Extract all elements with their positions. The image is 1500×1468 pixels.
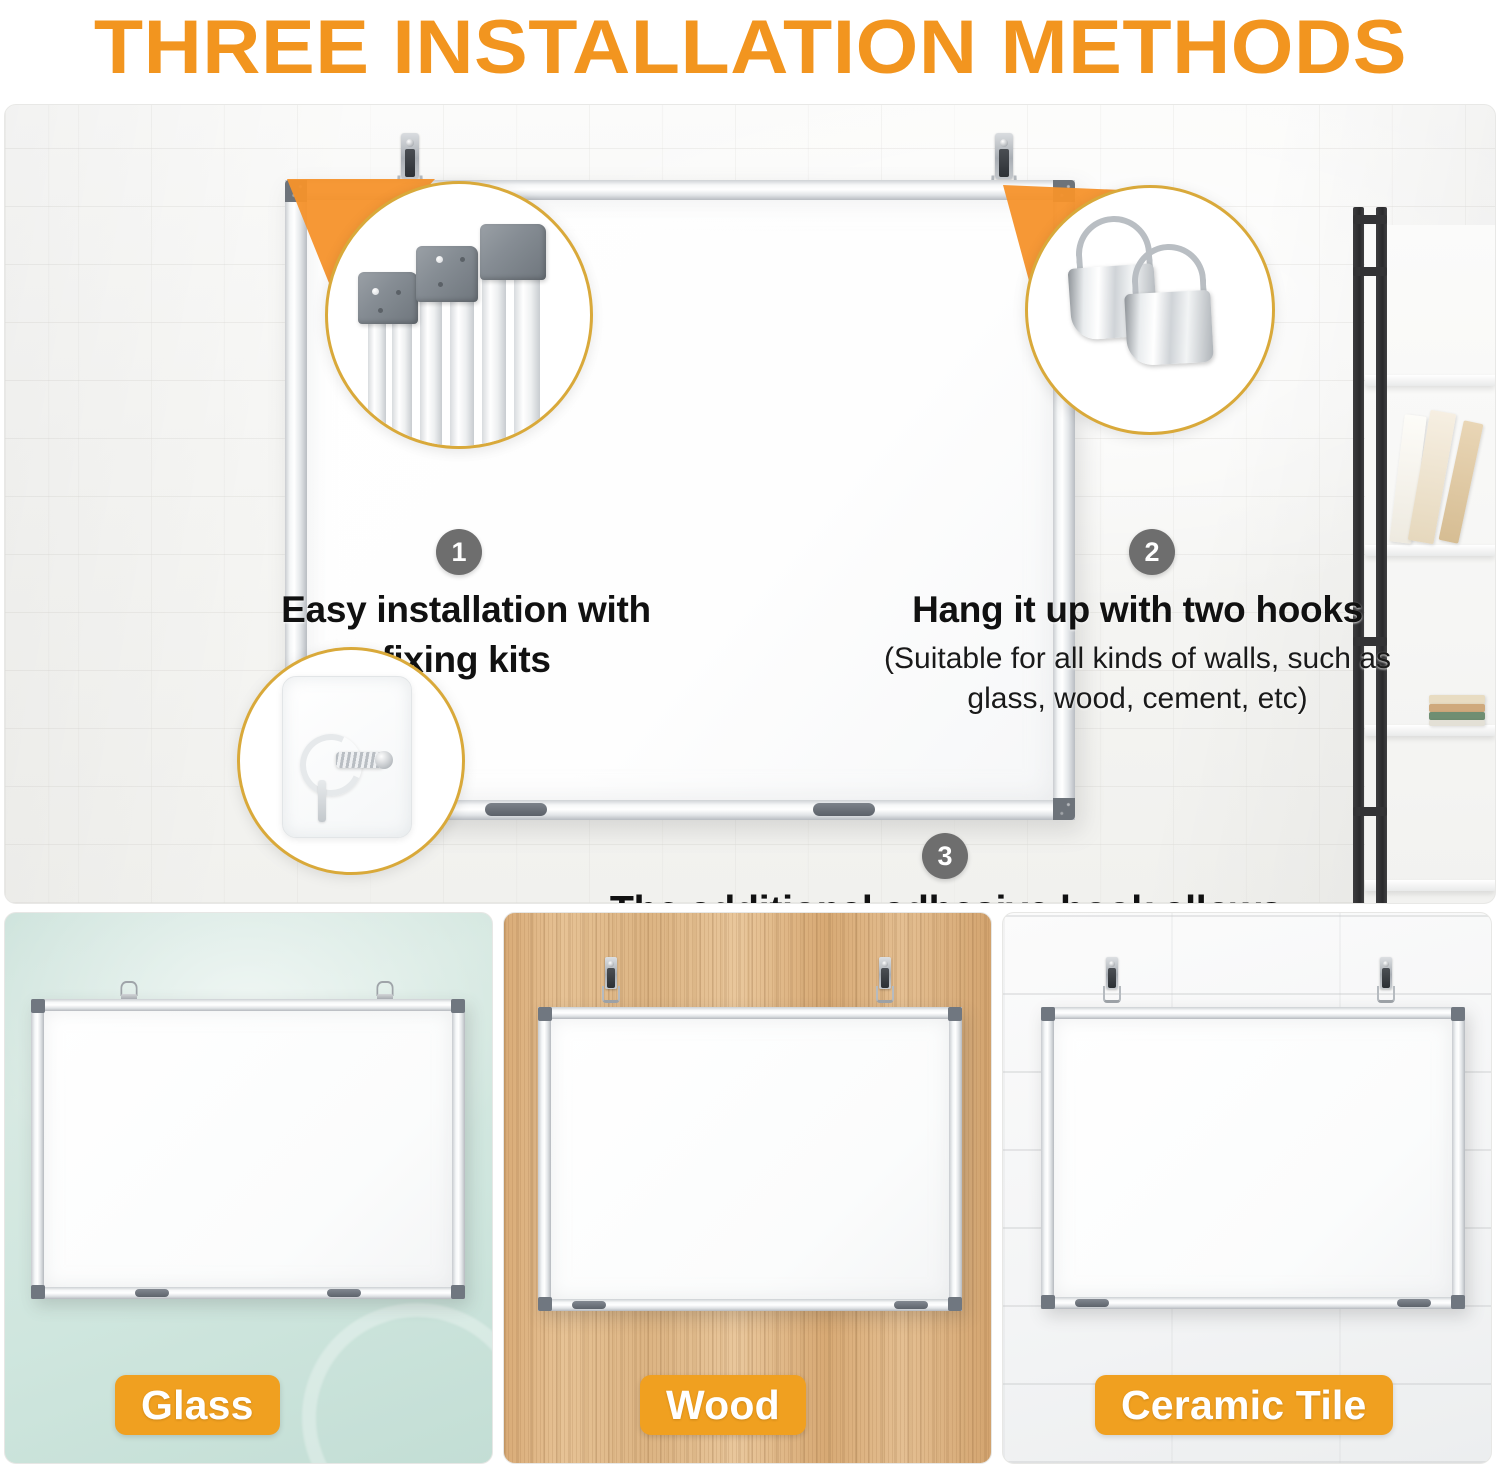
whiteboard-on-glass (31, 999, 465, 1299)
material-label-ceramic-tile-text: Ceramic Tile (1121, 1383, 1367, 1427)
whiteboard-surface (1054, 1019, 1452, 1297)
wood-wall-hook-left (602, 957, 620, 1009)
glass-reflection (302, 1303, 493, 1464)
material-panel-ceramic-tile: Ceramic Tile (1002, 912, 1492, 1464)
whiteboard-on-wood (538, 1007, 962, 1311)
bracket-hole (436, 256, 443, 263)
board-tray-clip (813, 803, 875, 816)
material-label-glass: Glass (115, 1375, 280, 1435)
zoom-circle-hanging-hooks (1025, 185, 1275, 435)
bracket-screw-dot (460, 257, 465, 262)
whiteboard-surface (551, 1019, 949, 1299)
ladder-rung (1353, 215, 1387, 224)
frame-rail (450, 280, 474, 449)
board-frame-top (31, 999, 465, 1011)
board-corner-bracket (451, 999, 465, 1013)
hook-screw (608, 961, 614, 967)
frame-rail (482, 274, 506, 449)
hook-screw (882, 961, 888, 967)
whiteboard-surface (44, 1011, 452, 1287)
board-frame-top (1041, 1007, 1465, 1019)
callout-2-headline: Hang it up with two hooks (865, 585, 1410, 635)
ladder-rail-left (1353, 207, 1364, 904)
board-tray-clip (135, 1289, 169, 1297)
wood-wall-hook-right (876, 957, 894, 1009)
ladder-rung (1353, 267, 1387, 276)
material-panel-wood: Wood (503, 912, 992, 1464)
hook-tongue (607, 968, 615, 988)
board-corner-bracket (538, 1297, 552, 1311)
adhesive-hook-stem (318, 780, 326, 822)
frame-rail (420, 286, 442, 449)
tile-wall-hook-right (1377, 957, 1395, 1009)
board-frame-bottom (31, 1287, 465, 1299)
hook-screw (1109, 961, 1115, 967)
board-corner-bracket (1451, 1295, 1465, 1309)
hook-screw (1000, 139, 1008, 147)
board-corner-bracket (948, 1007, 962, 1021)
material-label-wood: Wood (640, 1375, 806, 1435)
fixing-bracket-large (480, 224, 546, 280)
hook-triangle (1103, 986, 1121, 1003)
board-corner-bracket (1041, 1007, 1055, 1021)
hook-screw (406, 139, 414, 147)
board-frame-right (949, 1007, 962, 1311)
ladder-frame (1353, 207, 1387, 904)
board-corner-bracket (31, 1285, 45, 1299)
bracket-screw-dot (396, 290, 401, 295)
hook-triangle (1377, 986, 1395, 1003)
callout-2-subtext: (Suitable for all kinds of walls, such a… (865, 639, 1410, 719)
book (1429, 695, 1485, 704)
step-badge-2: 2 (1129, 529, 1175, 575)
whiteboard-on-tile (1041, 1007, 1465, 1309)
fixing-bracket-medium (416, 246, 478, 302)
board-frame-left (31, 999, 44, 1299)
board-corner-bracket (1041, 1295, 1055, 1309)
step-badge-1: 1 (436, 529, 482, 575)
bracket-hole (372, 288, 379, 295)
hook-tongue (999, 149, 1009, 177)
page-title-text: THREE INSTALLATION METHODS (93, 8, 1406, 88)
material-panel-strip: Glass (4, 912, 1496, 1464)
fixing-bracket-small (358, 272, 418, 324)
ladder-rail-right (1376, 207, 1387, 904)
bookshelf-unit (1325, 225, 1495, 904)
book (1429, 712, 1485, 720)
board-corner-bracket (451, 1285, 465, 1299)
hook-clip-body-2 (1124, 290, 1214, 366)
hook-triangle (602, 986, 620, 1003)
zoom-circle-adhesive-hook (237, 647, 465, 875)
book (1429, 704, 1485, 712)
material-label-glass-text: Glass (141, 1383, 254, 1427)
board-frame-left (538, 1007, 551, 1311)
board-corner-bracket (31, 999, 45, 1013)
board-corner-bracket (1451, 1007, 1465, 1021)
board-tray-clip (327, 1289, 361, 1297)
tile-wall-hook-left (1103, 957, 1121, 1009)
hook-tongue (1108, 968, 1116, 988)
callout-3: The additional adhesive hook allows you … (565, 883, 1327, 904)
board-tray-clip (894, 1301, 928, 1309)
board-frame-right (1452, 1007, 1465, 1309)
step-badge-3: 3 (922, 833, 968, 879)
screw-post (336, 752, 384, 768)
hook-triangle (876, 986, 894, 1003)
board-corner-bracket (1053, 798, 1075, 820)
board-tray-clip (485, 803, 547, 816)
board-corner-bracket (538, 1007, 552, 1021)
infographic-root: THREE INSTALLATION METHODS (0, 0, 1500, 1468)
bracket-screw-dot (438, 282, 443, 287)
material-panel-glass: Glass (4, 912, 493, 1464)
hook-screw (1383, 961, 1389, 967)
frame-rail (368, 302, 386, 449)
board-tray-clip (572, 1301, 606, 1309)
board-frame-top (538, 1007, 962, 1019)
board-corner-bracket (948, 1297, 962, 1311)
zoom-circle-fixing-kits (325, 181, 593, 449)
ladder-rung (1353, 807, 1387, 816)
bracket-screw-dot (378, 308, 383, 313)
material-label-wood-text: Wood (666, 1383, 780, 1427)
hook-tongue (1382, 968, 1390, 988)
book (1429, 720, 1485, 726)
board-tray-clip (1397, 1299, 1431, 1307)
board-frame-left (1041, 1007, 1054, 1309)
callout-3-headline: The additional adhesive hook allows you … (580, 883, 1312, 904)
hero-panel: 1 Easy installation with fixing kits 2 H… (4, 104, 1496, 904)
board-tray-clip (1075, 1299, 1109, 1307)
callout-2: Hang it up with two hooks (Suitable for … (865, 585, 1410, 719)
page-title: THREE INSTALLATION METHODS (0, 0, 1500, 96)
board-frame-right (452, 999, 465, 1299)
material-label-ceramic-tile: Ceramic Tile (1095, 1375, 1393, 1435)
frame-rail (514, 270, 540, 449)
hook-tongue (881, 968, 889, 988)
